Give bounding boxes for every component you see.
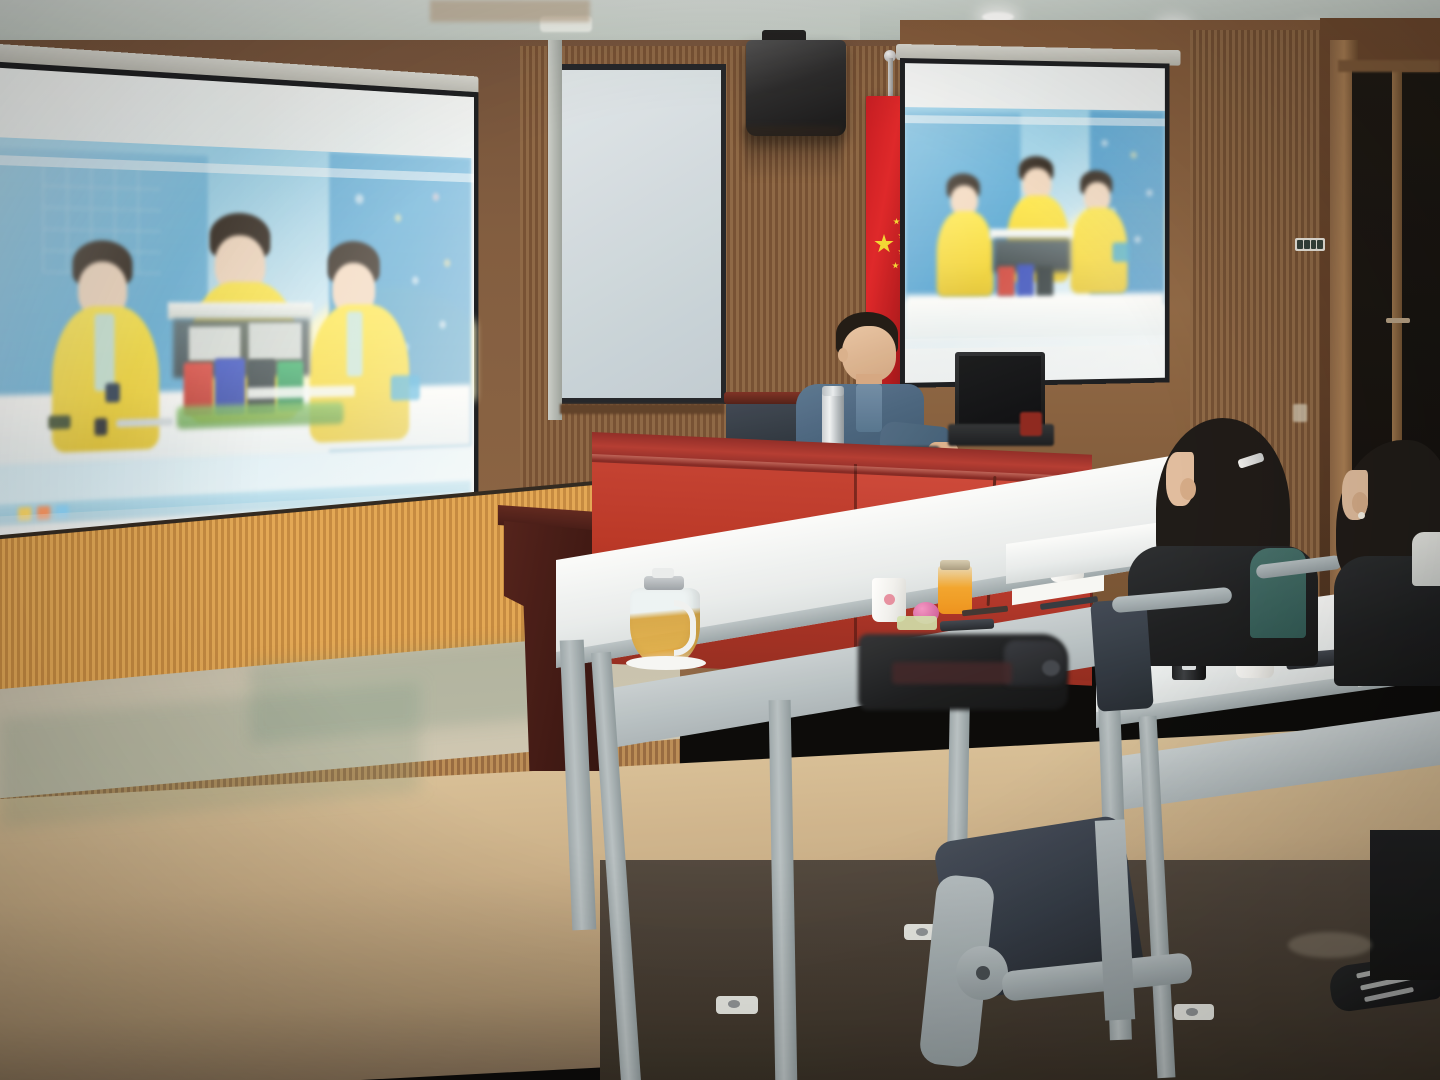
- light-switch-1-icon[interactable]: [1297, 240, 1303, 249]
- presenter-chair-top-rail: [724, 392, 806, 404]
- attendee-2-leg: [1370, 830, 1440, 980]
- flag-star-small-4-icon: [892, 262, 899, 269]
- table-1-foot-bolt-1: [728, 1000, 740, 1008]
- speaker-shadow: [744, 126, 842, 180]
- green-napkin: [897, 616, 937, 630]
- table-2-foot-bolt: [1186, 1008, 1198, 1016]
- light-switch-3-icon[interactable]: [1311, 240, 1317, 249]
- whiteboard-ledge: [560, 404, 724, 414]
- teapot-lid: [644, 576, 684, 590]
- juice-jar: [938, 566, 972, 614]
- chair-1[interactable]: [1090, 598, 1154, 712]
- whiteboard[interactable]: [556, 64, 726, 404]
- door-header: [1338, 60, 1440, 72]
- presenter-ear: [838, 348, 848, 362]
- chair-3-pivot-bolt-icon: [976, 966, 990, 980]
- attendee-2-shoulder-light: [1412, 532, 1440, 586]
- flag-star-large-icon: [874, 234, 894, 254]
- screen2-surface: [905, 63, 1165, 383]
- whiteboard-surface[interactable]: [561, 70, 721, 398]
- room-scene: [0, 0, 1440, 1080]
- table-1-foot-bolt-2: [916, 928, 928, 936]
- ceiling-beam: [430, 0, 590, 22]
- presenter-thermos-cap: [822, 386, 844, 396]
- juice-jar-lid: [940, 560, 970, 570]
- light-switch-2-icon[interactable]: [1304, 240, 1310, 249]
- light-switch-4-icon[interactable]: [1317, 240, 1323, 249]
- main-projection-screen[interactable]: [0, 42, 478, 572]
- floor-highlight: [1288, 932, 1372, 958]
- teapot-knob: [652, 568, 674, 578]
- attendee-1-ear: [1180, 478, 1196, 500]
- teapot-base: [626, 656, 706, 670]
- backpack-strap: [892, 662, 1012, 684]
- backpack-buckle-icon: [1042, 660, 1060, 676]
- door-handle-icon[interactable]: [1386, 318, 1410, 323]
- screen-glare: [0, 66, 474, 563]
- wall-outlet-icon[interactable]: [1293, 404, 1307, 422]
- wall-speaker: [746, 40, 846, 136]
- presenter-shirt-placket: [856, 384, 882, 432]
- flag-star-small-1-icon: [893, 218, 900, 225]
- light-switch-panel[interactable]: [1295, 238, 1325, 251]
- secondary-projection-screen[interactable]: [900, 58, 1170, 388]
- screen-surface: [0, 66, 474, 563]
- screen2-glare: [905, 63, 1165, 383]
- attendee-2-earring-icon: [1358, 512, 1365, 519]
- paper-cup-1-logo: [884, 594, 895, 605]
- attendee-2-ear: [1352, 492, 1368, 514]
- whiteboard-side-trim: [548, 40, 562, 420]
